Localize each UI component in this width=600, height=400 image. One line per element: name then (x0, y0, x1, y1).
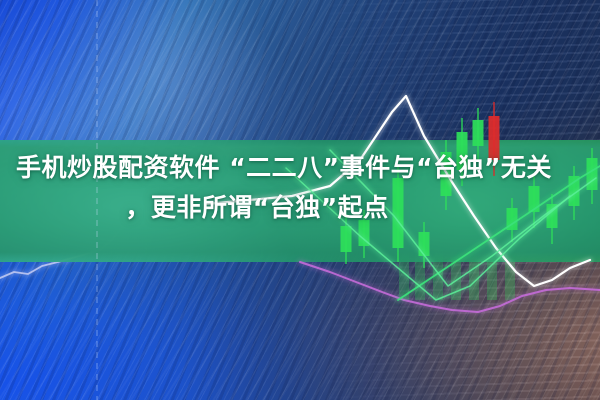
headline-line-2: ，更非所谓“台独”起点 (16, 188, 584, 228)
banner-image: 手机炒股配资软件 “二二八”事件与“台独”无关 ，更非所谓“台独”起点 (0, 0, 600, 400)
headline-line-1: 手机炒股配资软件 “二二八”事件与“台独”无关 (16, 148, 584, 188)
headline-text: 手机炒股配资软件 “二二八”事件与“台独”无关 ，更非所谓“台独”起点 (0, 148, 600, 228)
